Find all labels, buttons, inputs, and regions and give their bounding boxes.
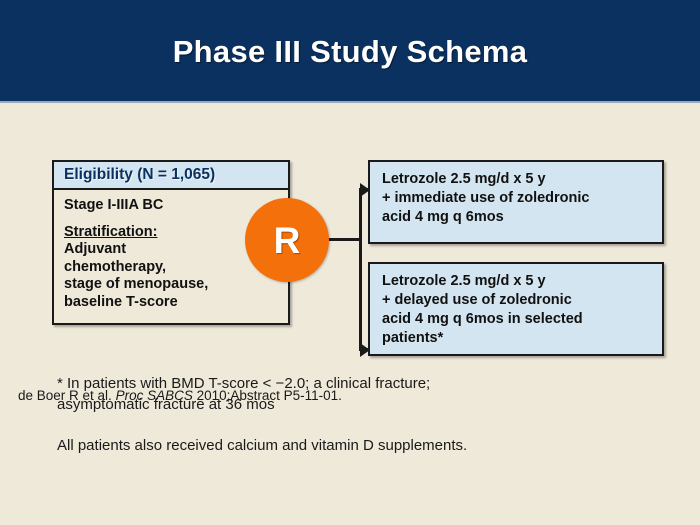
arm-line: + delayed use of zoledronic — [382, 291, 662, 310]
arm-line: Letrozole 2.5 mg/d x 5 y — [382, 272, 662, 291]
slide-body: Eligibility (N = 1,065) Stage I-IIIA BC … — [0, 103, 700, 525]
arm-line: + immediate use of zoledronic — [382, 189, 662, 208]
footnote-spacer — [57, 415, 657, 435]
citation-reference: 2010;Abstract P5-11-01. — [193, 388, 342, 403]
footnotes: * In patients with BMD T-score < −2.0; a… — [57, 373, 657, 456]
stratification-item: stage of menopause, — [64, 276, 288, 294]
citation-authors: de Boer R et al. — [18, 388, 116, 403]
arm-line: patients* — [382, 329, 662, 348]
page-title: Phase III Study Schema — [0, 0, 700, 103]
title-banner: Phase III Study Schema — [0, 0, 700, 103]
connector-stem-line — [325, 238, 362, 241]
treatment-arm-immediate-box: Letrozole 2.5 mg/d x 5 y + immediate use… — [368, 160, 664, 244]
connector-vertical-line — [359, 188, 362, 351]
eligibility-header-label: Eligibility (N = 1,065) — [64, 166, 215, 184]
stratification-item: baseline T-score — [64, 294, 288, 312]
treatment-arm-delayed-box: Letrozole 2.5 mg/d x 5 y + delayed use o… — [368, 262, 664, 356]
footnote-line: All patients also received calcium and v… — [57, 435, 657, 456]
arm-line: acid 4 mg q 6mos in selected — [382, 310, 662, 329]
arm-line: acid 4 mg q 6mos — [382, 208, 662, 227]
arm-line: Letrozole 2.5 mg/d x 5 y — [382, 170, 662, 189]
citation-journal: Proc SABCS — [116, 388, 193, 403]
randomization-label: R — [274, 222, 301, 259]
citation: de Boer R et al. Proc SABCS 2010;Abstrac… — [18, 388, 342, 403]
eligibility-header: Eligibility (N = 1,065) — [54, 162, 288, 190]
randomization-circle-icon: R — [245, 198, 329, 282]
footnote-supplements: All patients also received calcium and v… — [57, 435, 657, 456]
